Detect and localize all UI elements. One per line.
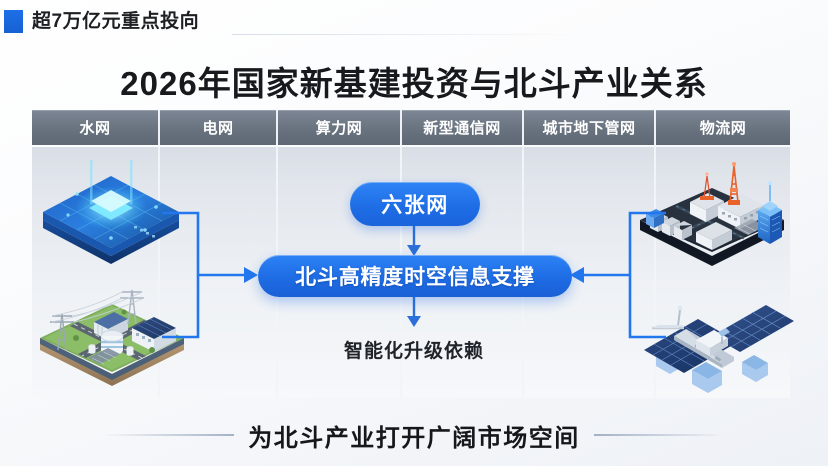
node-beidou-support[interactable]: 北斗高精度时空信息支撑 xyxy=(258,255,572,297)
node-intelligent-upgrade-label: 智能化升级依赖 xyxy=(0,336,828,363)
tab-xinxingtongxinwang[interactable]: 新型通信网 xyxy=(402,110,524,145)
accent-square-icon xyxy=(4,10,23,33)
badge-divider xyxy=(232,34,592,35)
node-six-networks[interactable]: 六张网 xyxy=(350,182,480,226)
node-six-networks-label: 六张网 xyxy=(381,189,449,219)
tab-chengshidixiaguanwang[interactable]: 城市地下管网 xyxy=(524,110,656,145)
node-beidou-support-label: 北斗高精度时空信息支撑 xyxy=(295,261,535,291)
page-title: 2026年国家新基建投资与北斗产业关系 xyxy=(0,57,828,105)
footer-line-right xyxy=(594,434,726,436)
tab-dianwang[interactable]: 电网 xyxy=(160,110,278,145)
footer-caption: 为北斗产业打开广阔市场空间 xyxy=(248,418,580,453)
right-connector-bracket xyxy=(568,195,668,355)
arrow-down-bottom xyxy=(404,295,424,329)
footer-caption-bar: 为北斗产业打开广阔市场空间 xyxy=(0,412,828,458)
arrow-down-top xyxy=(404,224,424,258)
network-tab-row: 水网 电网 算力网 新型通信网 城市地下管网 物流网 xyxy=(32,110,790,145)
slide-canvas: 超7万亿元重点投向 2026年国家新基建投资与北斗产业关系 水网 电网 算力网 … xyxy=(0,0,828,466)
footer-line-left xyxy=(102,434,234,436)
left-connector-bracket xyxy=(160,195,260,355)
top-badge-bar: 超7万亿元重点投向 xyxy=(0,0,828,46)
tab-shuiwang[interactable]: 水网 xyxy=(32,110,160,145)
tab-suanliwang[interactable]: 算力网 xyxy=(278,110,402,145)
badge-label: 超7万亿元重点投向 xyxy=(32,8,199,36)
tab-wuliuwang[interactable]: 物流网 xyxy=(656,110,790,145)
